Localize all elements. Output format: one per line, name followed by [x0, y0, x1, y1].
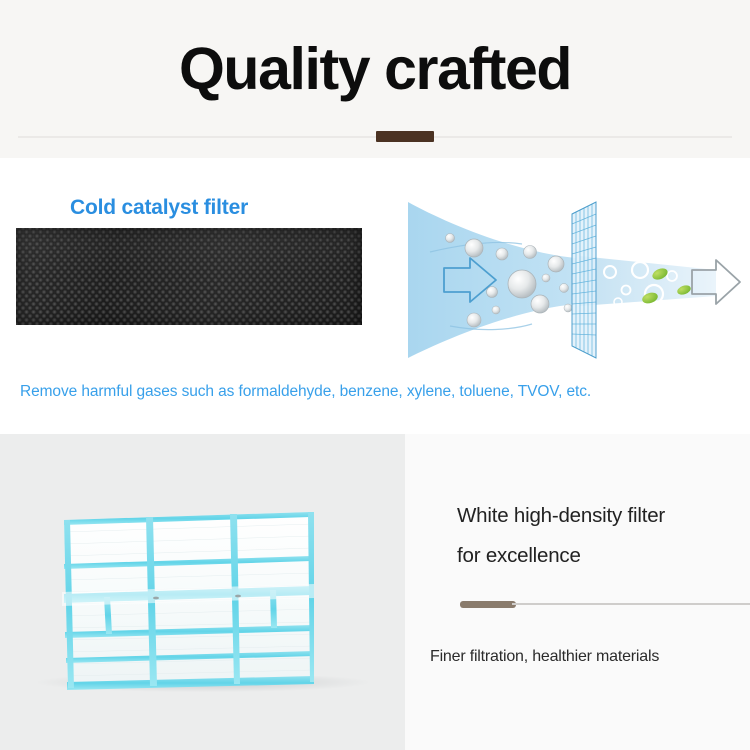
- filter-mesh-screen: [572, 202, 596, 358]
- header-divider-line: [18, 136, 732, 138]
- inlet-airflow-shape: [408, 202, 576, 358]
- white-filter-heading-line2: for excellence: [457, 536, 737, 576]
- honeycomb-carbon-filter-image: [16, 228, 362, 325]
- airflow-diagram: [404, 200, 744, 360]
- carbon-sheen-overlay: [16, 228, 362, 325]
- product-detail-page: Quality crafted Cold catalyst filter: [0, 0, 750, 750]
- cold-catalyst-caption: Remove harmful gases such as formaldehyd…: [20, 383, 591, 401]
- white-filter-divider-line: [512, 603, 750, 605]
- white-filter-heading: White high-density filter for excellence: [457, 496, 737, 576]
- white-high-density-filter-image: [58, 506, 320, 694]
- cold-catalyst-section: Cold catalyst filter: [0, 158, 750, 434]
- page-header: Quality crafted: [0, 0, 750, 158]
- white-filter-caption: Finer filtration, healthier materials: [430, 648, 659, 666]
- white-filter-heading-line1: White high-density filter: [457, 496, 737, 536]
- header-accent-bar: [376, 131, 434, 142]
- white-filter-section: White high-density filter for excellence: [0, 434, 750, 750]
- page-title: Quality crafted: [0, 34, 750, 104]
- airflow-diagram-svg: [404, 200, 744, 360]
- cold-catalyst-heading: Cold catalyst filter: [70, 196, 248, 220]
- white-filter-divider-accent: [460, 601, 516, 608]
- white-filter-photo-panel: [0, 434, 405, 750]
- filter-photo-svg: [58, 506, 320, 694]
